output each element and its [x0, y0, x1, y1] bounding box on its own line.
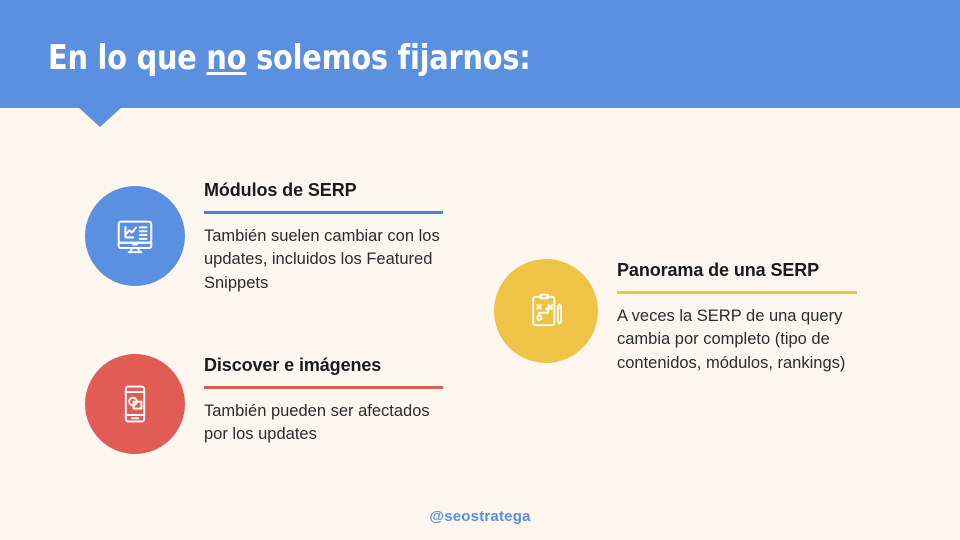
icon-circle-serp-overview	[494, 259, 598, 363]
clipboard-strategy-icon	[523, 288, 569, 334]
page-title-prefix: En lo que	[48, 38, 206, 78]
block-rule-serp-overview	[617, 291, 857, 294]
mobile-images-icon	[113, 382, 157, 426]
text-column-serp-modules: Módulos de SERP También suelen cambiar c…	[204, 180, 449, 295]
footer-handle: @seostratega	[0, 508, 960, 525]
block-heading-serp-modules: Módulos de SERP	[204, 180, 449, 201]
header-notch-triangle	[78, 107, 122, 127]
page-title-emphasis: no	[206, 38, 246, 78]
monitor-chart-icon	[112, 213, 158, 259]
text-column-discover: Discover e imágenes También pueden ser a…	[204, 355, 449, 447]
block-body-discover: También pueden ser afectados por los upd…	[204, 400, 449, 447]
block-rule-serp-modules	[204, 211, 443, 214]
icon-circle-serp-modules	[85, 186, 185, 286]
block-heading-discover: Discover e imágenes	[204, 355, 449, 376]
block-body-serp-overview: A veces la SERP de una query cambia por …	[617, 305, 882, 375]
block-heading-serp-overview: Panorama de una SERP	[617, 260, 882, 281]
slide-canvas: En lo que no solemos fijarnos: Módulos	[0, 0, 960, 540]
block-body-serp-modules: También suelen cambiar con los updates, …	[204, 225, 449, 295]
text-column-serp-overview: Panorama de una SERP A veces la SERP de …	[617, 260, 882, 375]
page-title-suffix: solemos fijarnos:	[246, 38, 530, 78]
icon-circle-discover	[85, 354, 185, 454]
page-title: En lo que no solemos fijarnos:	[48, 38, 531, 78]
block-rule-discover	[204, 386, 443, 389]
